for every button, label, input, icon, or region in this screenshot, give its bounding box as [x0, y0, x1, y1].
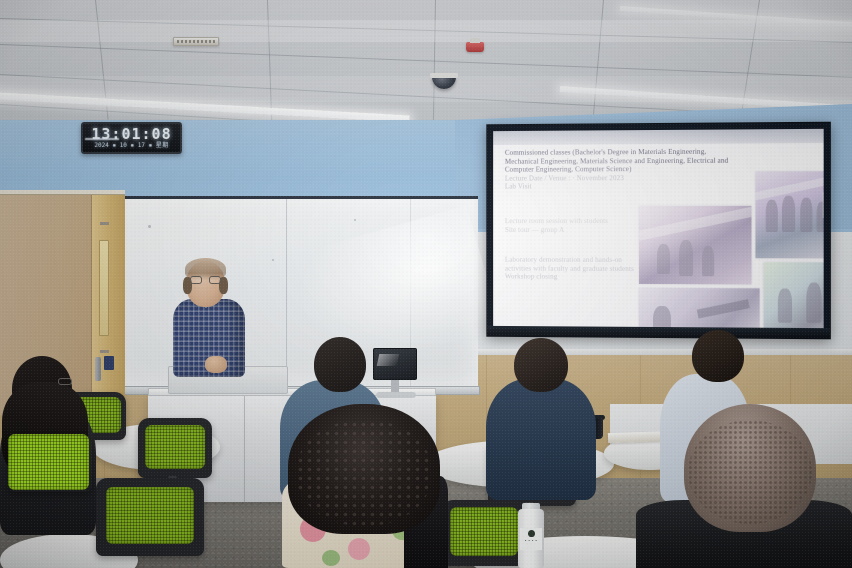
door-hinge-icon [100, 222, 109, 225]
attendee-navy-head [514, 338, 568, 392]
bottle-label-text: • • • • [520, 539, 542, 543]
attendee-lightblue-head [692, 330, 744, 382]
attendee-center-head [314, 337, 366, 392]
screen-bottom-bar [487, 326, 830, 338]
attendee-curly-hair-texture [296, 420, 432, 526]
presenter-hands [205, 356, 227, 373]
door-handle-icon[interactable] [95, 357, 101, 381]
mesh-task-chair[interactable] [96, 478, 204, 556]
attendee-left-glasses-icon [58, 378, 72, 385]
clock-date: 2024 ▪ 10 ▪ 17 ▪ 星期 [83, 140, 180, 149]
attendee-navy-torso [486, 378, 596, 500]
confidence-monitor [373, 348, 417, 380]
slide-photo-lab-visit [764, 262, 824, 328]
door-header [0, 190, 125, 195]
projection-screen: Commissioned classes (Bachelor's Degree … [486, 122, 831, 340]
door-lock-plate-icon [104, 356, 114, 370]
bottle-logo-icon [528, 530, 535, 537]
ceiling [0, 0, 852, 128]
monitor-base [376, 392, 416, 398]
presenter-glasses-icon [190, 276, 221, 284]
whiteboard [108, 196, 478, 386]
classroom-photo-scene: 13:01:08 2024 ▪ 10 ▪ 17 ▪ 星期 Commissione… [0, 0, 852, 568]
slide-photo-lecture-hall [639, 206, 751, 285]
slide-photo-classroom-group [756, 171, 824, 258]
slide-photo-seminar-speaker [639, 288, 760, 328]
mesh-task-chair[interactable] [138, 418, 212, 478]
attendee-foreground-hair-texture [688, 420, 812, 524]
door-hinge-icon [100, 350, 109, 353]
mesh-task-chair[interactable] [442, 500, 526, 566]
projection-screen-surface: Commissioned classes (Bachelor's Degree … [493, 129, 824, 328]
slide-top-band [493, 129, 824, 145]
fire-sprinkler-icon [466, 42, 484, 52]
recessed-fixture-icon [173, 37, 219, 46]
mesh-task-chair[interactable] [8, 434, 92, 492]
door-vision-panel [99, 240, 109, 336]
digital-wall-clock: 13:01:08 2024 ▪ 10 ▪ 17 ▪ 星期 [81, 122, 182, 154]
